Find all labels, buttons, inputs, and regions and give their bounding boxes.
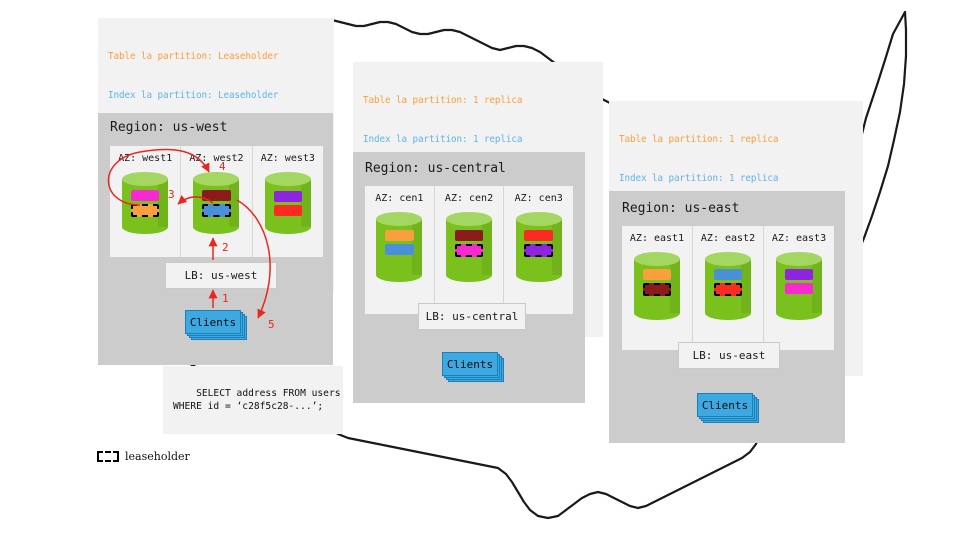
az-cell-cen1[interactable]: AZ: cen1 [365,186,435,314]
node-cylinder[interactable] [634,252,680,320]
flow-step-1: 1 [222,292,229,305]
az-label: AZ: east1 [630,233,684,244]
range-stack [446,212,492,300]
node-cylinder[interactable] [265,172,311,234]
range-replica [643,269,672,280]
range-stack [776,252,822,337]
clients-us-central[interactable]: Clients [442,352,504,384]
diagram-canvas: Table la partition: Leaseholder Index la… [0,0,960,540]
az-cell-east2[interactable]: AZ: east2 [693,226,764,350]
az-group-us-east: AZ: east1 AZ: east2 [622,226,834,350]
node-cylinder[interactable] [122,172,168,234]
az-cell-cen2[interactable]: AZ: cen2 [435,186,505,314]
range-replica [524,230,553,241]
range-replica [785,269,814,280]
flow-step-3: 3 [168,188,175,201]
clients-us-west[interactable]: Clients [185,310,247,342]
az-cell-east1[interactable]: AZ: east1 [622,226,693,350]
region-title-us-central: Region: us-central [365,161,506,176]
range-replica [785,283,814,294]
az-group-us-central: AZ: cen1 AZ: cen2 [365,186,573,314]
range-replica [714,269,743,280]
range-replica [385,244,414,255]
az-label: AZ: cen3 [515,193,563,204]
node-cylinder[interactable] [705,252,751,320]
az-label: AZ: east3 [772,233,826,244]
az-label: AZ: west3 [261,153,315,164]
legend-line: Table la partition: 1 replica [619,133,855,146]
sql-line-2: WHERE id = ‘c28f5c28-...’; [173,401,323,412]
az-cell-west3[interactable]: AZ: west3 [253,146,323,257]
range-leaseholder [131,204,160,217]
az-label: AZ: east2 [701,233,755,244]
range-replica [274,191,303,202]
az-cell-west2[interactable]: AZ: west2 [181,146,252,257]
range-stack [376,212,422,300]
flow-step-4: 4 [219,160,226,173]
node-cylinder[interactable] [516,212,562,282]
range-leaseholder [643,283,672,296]
az-label: AZ: west2 [189,153,243,164]
range-leaseholder [455,244,484,257]
node-cylinder[interactable] [446,212,492,282]
legend-line: Index la partition: 1 replica [363,133,595,146]
leaseholder-legend-label: leaseholder [125,450,190,463]
range-stack [634,252,680,337]
node-cylinder[interactable] [776,252,822,320]
az-cell-east3[interactable]: AZ: east3 [764,226,834,350]
node-cylinder[interactable] [193,172,239,234]
range-stack [516,212,562,300]
sql-line-1: SELECT address FROM users [196,388,340,399]
legend-line: Index la partition: Leaseholder [108,89,326,102]
flow-step-2: 2 [222,241,229,254]
leaseholder-legend: leaseholder [97,450,190,463]
region-title-us-east: Region: us-east [622,201,739,216]
range-leaseholder [714,283,743,296]
az-group-us-west: AZ: west1 AZ: west2 [110,146,323,257]
node-cylinder[interactable] [376,212,422,282]
clients-label[interactable]: Clients [185,310,241,334]
clients-label[interactable]: Clients [442,352,498,376]
load-balancer-us-west[interactable]: LB: us-west [165,262,277,289]
leaseholder-swatch-icon [97,451,119,462]
range-replica [131,190,160,201]
range-leaseholder [524,244,553,257]
range-replica [385,230,414,241]
az-cell-cen3[interactable]: AZ: cen3 [504,186,573,314]
range-replica [202,190,231,201]
legend-line: Index la partition: 1 replica [619,172,855,185]
load-balancer-us-east[interactable]: LB: us-east [678,342,780,369]
range-stack [265,172,311,234]
load-balancer-us-central[interactable]: LB: us-central [418,303,526,330]
clients-label[interactable]: Clients [697,393,753,417]
az-label: AZ: cen1 [375,193,423,204]
range-replica [274,205,303,216]
az-cell-west1[interactable]: AZ: west1 [110,146,181,257]
range-replica [455,230,484,241]
legend-line: Table la partition: Leaseholder [108,50,326,63]
range-stack [122,172,168,234]
sql-query-box: SELECT address FROM users WHERE id = ‘c2… [163,366,343,434]
az-label: AZ: cen2 [445,193,493,204]
region-title-us-west: Region: us-west [110,120,227,135]
clients-us-east[interactable]: Clients [697,393,759,425]
flow-step-5: 5 [268,318,275,331]
range-stack [193,172,239,234]
range-leaseholder [202,204,231,217]
az-label: AZ: west1 [118,153,172,164]
legend-line: Table la partition: 1 replica [363,94,595,107]
range-stack [705,252,751,337]
